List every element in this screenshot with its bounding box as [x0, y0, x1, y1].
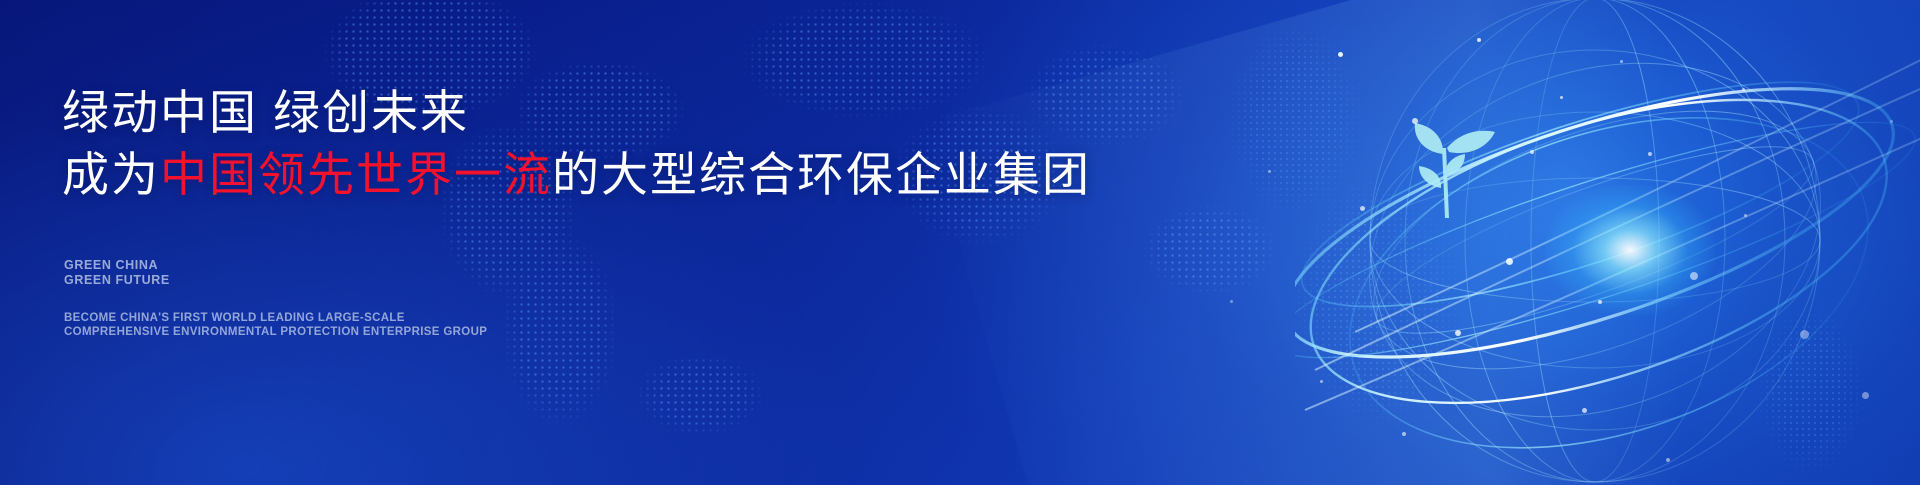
subline-line-1: BECOME CHINA'S FIRST WORLD LEADING LARGE…	[64, 311, 487, 325]
headline-line-2-prefix: 成为	[62, 148, 160, 201]
headline-line-2-highlight: 中国领先世界一流	[160, 148, 552, 201]
tagline: GREEN CHINA GREEN FUTURE	[64, 258, 170, 288]
headline-line-2-suffix: 的大型综合环保企业集团	[552, 148, 1091, 201]
tagline-line-2: GREEN FUTURE	[64, 273, 170, 288]
tagline-line-1: GREEN CHINA	[64, 258, 170, 273]
banner-copy: 绿动中国 绿创未来 成为中国领先世界一流的大型综合环保企业集团 GREEN CH…	[62, 0, 1212, 485]
subline-line-2: COMPREHENSIVE ENVIRONMENTAL PROTECTION E…	[64, 325, 487, 339]
hero-banner: 绿动中国 绿创未来 成为中国领先世界一流的大型综合环保企业集团 GREEN CH…	[0, 0, 1920, 485]
sprout-icon	[1415, 123, 1495, 218]
starburst-flare	[1545, 185, 1715, 315]
headline: 绿动中国 绿创未来 成为中国领先世界一流的大型综合环保企业集团	[62, 82, 1091, 206]
subline: BECOME CHINA'S FIRST WORLD LEADING LARGE…	[64, 311, 487, 339]
headline-line-1: 绿动中国 绿创未来	[62, 82, 1091, 144]
headline-line-2: 成为中国领先世界一流的大型综合环保企业集团	[62, 144, 1091, 206]
wireframe-globe	[1295, 0, 1920, 485]
